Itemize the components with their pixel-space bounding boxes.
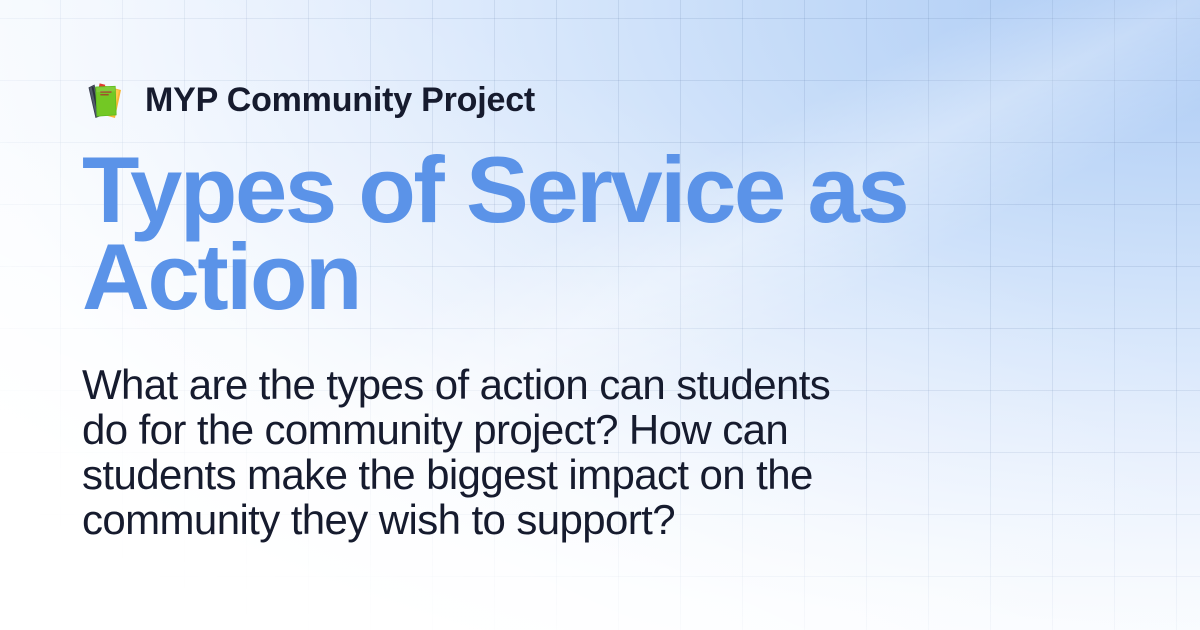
page-description: What are the types of action can student… [82,321,872,543]
notebook-emoji-icon [82,77,128,123]
page-title: Types of Service as Action [82,124,962,321]
share-card: MYP Community Project Types of Service a… [0,0,1200,630]
card-content: MYP Community Project Types of Service a… [0,0,1200,630]
brand-label: MYP Community Project [145,83,535,117]
brand-row: MYP Community Project [82,76,1120,124]
